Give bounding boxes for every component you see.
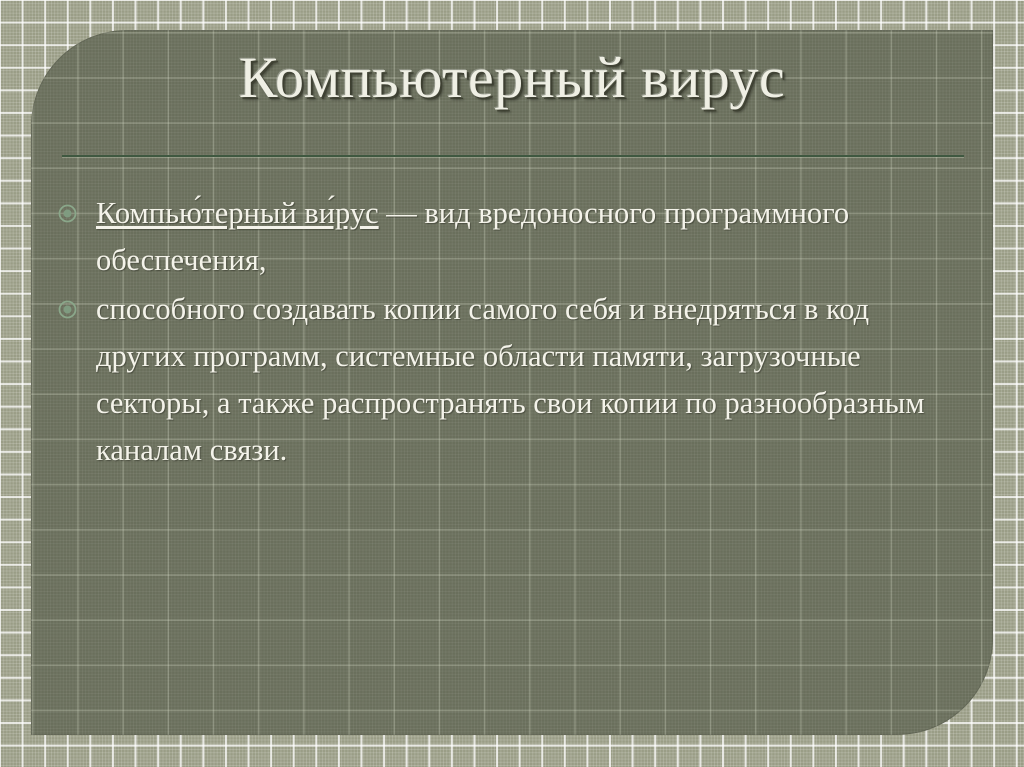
target-bullet-icon [58,286,96,319]
defined-term: Компью́терный ви́рус [96,196,379,230]
title-divider [62,155,964,157]
list-item-text: способного создавать копии самого себя и… [96,286,938,474]
presentation-slide: Компьютерный вирус Компью́терный ви́рус … [0,0,1024,767]
page-title: Компьютерный вирус [239,48,786,108]
target-bullet-icon [58,190,96,223]
slide-body: Компью́терный ви́рус — вид вредоносного … [58,190,938,476]
list-item: способного создавать копии самого себя и… [58,286,938,474]
list-item: Компью́терный ви́рус — вид вредоносного … [58,190,938,284]
list-item-text: Компью́терный ви́рус — вид вредоносного … [96,190,938,284]
slide-title-block: Компьютерный вирус [0,48,1024,108]
